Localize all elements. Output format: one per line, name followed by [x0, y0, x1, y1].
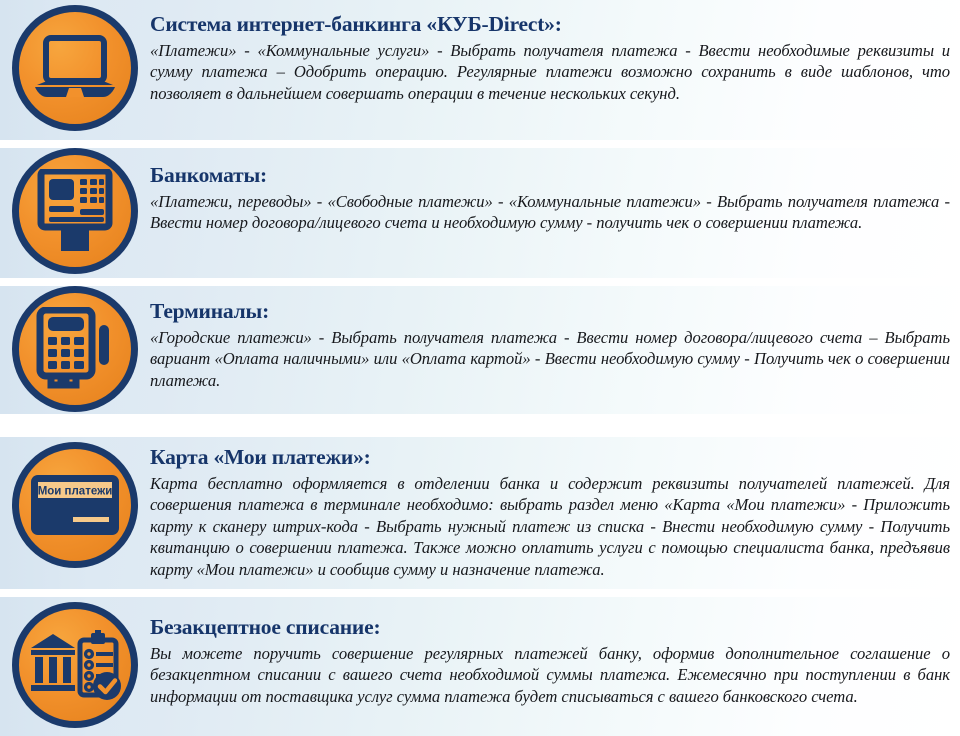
section-my-payments-card: Мои платежи Карта «Мои платежи»: Карта б…	[0, 437, 960, 581]
icon-column: Мои платежи	[0, 437, 150, 568]
payment-terminal-icon-badge	[12, 286, 138, 412]
section-heading: Банкоматы:	[150, 163, 952, 188]
payment-methods-infographic: Система интернет-банкинга «КУБ-Direct»: …	[0, 0, 960, 736]
section-body: «Платежи» - «Коммунальные услуги» - Выбр…	[150, 40, 950, 105]
payment-terminal-icon	[35, 307, 115, 391]
section-internet-banking: Система интернет-банкинга «КУБ-Direct»: …	[0, 0, 960, 131]
bank-clipboard-check-icon	[29, 630, 121, 700]
icon-column	[0, 597, 150, 728]
section-heading: Карта «Мои платежи»:	[150, 445, 952, 470]
text-column: Система интернет-банкинга «КУБ-Direct»: …	[150, 0, 960, 104]
section-direct-debit: Безакцептное списание: Вы можете поручит…	[0, 597, 960, 728]
section-heading: Безакцептное списание:	[150, 615, 952, 640]
laptop-icon-badge	[12, 5, 138, 131]
bank-clipboard-check-icon-badge	[12, 602, 138, 728]
laptop-icon	[33, 35, 117, 101]
text-column: Терминалы: «Городские платежи» - Выбрать…	[150, 286, 960, 391]
text-column: Карта «Мои платежи»: Карта бесплатно офо…	[150, 437, 960, 581]
icon-column	[0, 148, 150, 274]
text-column: Безакцептное списание: Вы можете поручит…	[150, 597, 960, 707]
section-body: Вы можете поручить совершение регулярных…	[150, 643, 950, 708]
section-body: Карта бесплатно оформляется в отделении …	[150, 473, 950, 581]
section-heading: Система интернет-банкинга «КУБ-Direct»:	[150, 12, 952, 37]
icon-column	[0, 0, 150, 131]
section-body: «Городские платежи» - Выбрать получателя…	[150, 327, 950, 392]
bank-card-icon-badge: Мои платежи	[12, 442, 138, 568]
atm-icon-badge	[12, 148, 138, 274]
atm-icon	[36, 169, 114, 253]
section-body: «Платежи, переводы» - «Свободные платежи…	[150, 191, 950, 234]
section-heading: Терминалы:	[150, 299, 952, 324]
section-atms: Банкоматы: «Платежи, переводы» - «Свобод…	[0, 148, 960, 274]
text-column: Банкоматы: «Платежи, переводы» - «Свобод…	[150, 148, 960, 234]
bank-card-icon: Мои платежи	[29, 473, 121, 537]
icon-column	[0, 286, 150, 412]
section-terminals: Терминалы: «Городские платежи» - Выбрать…	[0, 286, 960, 412]
bank-card-label: Мои платежи	[38, 486, 113, 498]
